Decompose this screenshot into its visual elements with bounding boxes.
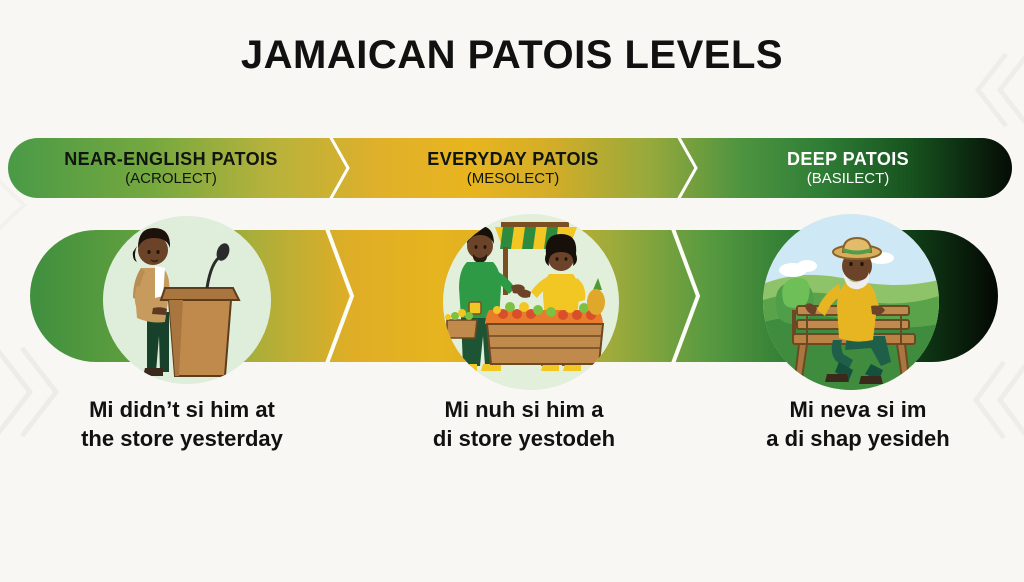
caption-mesolect: Mi nuh si him a di store yestodeh [368, 396, 680, 453]
banner-segment-mesolect-subtitle: (MESOLECT) [467, 171, 560, 187]
elder-on-park-bench-icon [763, 214, 939, 390]
banner-segment-acrolect-subtitle: (ACROLECT) [125, 171, 217, 187]
banner-segment-basilect: DEEP PATOIS (BASILECT) [698, 138, 998, 198]
caption-basilect-line1: Mi neva si im [790, 397, 927, 422]
banner-segment-acrolect-title: NEAR-ENGLISH PATOIS [64, 150, 278, 169]
woman-at-podium-icon [103, 216, 271, 384]
banner-segment-mesolect: EVERYDAY PATOIS (MESOLECT) [348, 138, 678, 198]
caption-basilect: Mi neva si im a di shap yesideh [708, 396, 1008, 453]
caption-mesolect-line1: Mi nuh si him a [445, 397, 604, 422]
banner-segment-acrolect: NEAR-ENGLISH PATOIS (ACROLECT) [16, 138, 326, 198]
caption-acrolect-line2: the store yesterday [22, 425, 342, 454]
bar-chevron-divider-2 [664, 230, 710, 362]
caption-acrolect: Mi didn’t si him at the store yesterday [22, 396, 342, 453]
caption-acrolect-line1: Mi didn’t si him at [89, 397, 275, 422]
banner-segment-mesolect-title: EVERYDAY PATOIS [427, 150, 598, 169]
infographic-canvas: JAMAICAN PATOIS LEVELS NEAR-ENGLISH PATO… [0, 0, 1024, 582]
bar-chevron-divider-1 [318, 230, 364, 362]
caption-basilect-line2: a di shap yesideh [708, 425, 1008, 454]
banner-segment-basilect-title: DEEP PATOIS [787, 150, 909, 169]
banner-segment-basilect-subtitle: (BASILECT) [807, 171, 890, 187]
market-stall-conversation-icon [443, 214, 619, 390]
caption-mesolect-line2: di store yestodeh [368, 425, 680, 454]
page-title: JAMAICAN PATOIS LEVELS [0, 33, 1024, 78]
patois-levels-banner: NEAR-ENGLISH PATOIS (ACROLECT) EVERYDAY … [8, 138, 1012, 198]
